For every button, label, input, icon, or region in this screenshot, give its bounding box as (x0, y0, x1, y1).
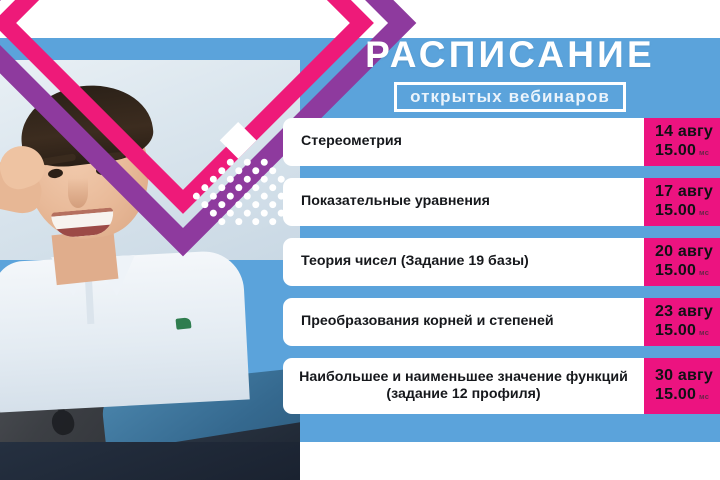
schedule-time: 15.00 (655, 142, 696, 159)
shirt-brand-logo-icon (175, 317, 191, 330)
schedule-topic: Теория чисел (Задание 19 базы) (283, 238, 644, 286)
schedule-datetime-block: 23 авгу15.00мс (644, 298, 720, 346)
schedule-timezone: мс (699, 208, 709, 217)
schedule-topic: Преобразования корней и степеней (283, 298, 644, 346)
schedule-row[interactable]: Преобразования корней и степеней23 авгу1… (283, 298, 720, 346)
subtitle-box: открытых вебинаров (394, 82, 626, 112)
schedule-list: Стереометрия14 авгу15.00мсПоказательные … (283, 118, 720, 426)
schedule-row[interactable]: Теория чисел (Задание 19 базы)20 авгу15.… (283, 238, 720, 286)
photo-young-man-with-laptop (0, 60, 300, 480)
poster-canvas: РАСПИСАНИЕ открытых вебинаров Стереометр… (0, 0, 720, 480)
schedule-time: 15.00 (655, 262, 696, 279)
schedule-topic: Наибольшее и наименьшее значение функций… (283, 358, 644, 414)
schedule-datetime-block: 20 авгу15.00мс (644, 238, 720, 286)
schedule-topic: Стереометрия (283, 118, 644, 166)
schedule-date: 23 авгу (655, 303, 720, 322)
schedule-date: 14 авгу (655, 123, 720, 142)
schedule-row[interactable]: Наибольшее и наименьшее значение функций… (283, 358, 720, 414)
schedule-time-line: 15.00мс (655, 142, 720, 161)
schedule-topic: Показательные уравнения (283, 178, 644, 226)
schedule-timezone: мс (699, 328, 709, 337)
page-subtitle: открытых вебинаров (410, 88, 610, 105)
schedule-time-line: 15.00мс (655, 262, 720, 281)
schedule-row[interactable]: Стереометрия14 авгу15.00мс (283, 118, 720, 166)
header: РАСПИСАНИЕ открытых вебинаров (300, 36, 720, 112)
schedule-timezone: мс (699, 268, 709, 277)
schedule-datetime-block: 14 авгу15.00мс (644, 118, 720, 166)
schedule-datetime-block: 30 авгу15.00мс (644, 358, 720, 414)
schedule-timezone: мс (699, 392, 709, 401)
schedule-time-line: 15.00мс (655, 386, 720, 405)
page-title: РАСПИСАНИЕ (300, 36, 720, 73)
photo-nose (68, 178, 88, 208)
schedule-row[interactable]: Показательные уравнения17 авгу15.00мс (283, 178, 720, 226)
schedule-time-line: 15.00мс (655, 202, 720, 221)
photo-smile (51, 207, 115, 238)
photo-bottom-bleed (0, 442, 300, 480)
schedule-time-line: 15.00мс (655, 322, 720, 341)
schedule-time: 15.00 (655, 202, 696, 219)
schedule-timezone: мс (699, 148, 709, 157)
schedule-time: 15.00 (655, 386, 696, 403)
schedule-date: 20 авгу (655, 243, 720, 262)
schedule-datetime-block: 17 авгу15.00мс (644, 178, 720, 226)
schedule-date: 30 авгу (655, 367, 720, 386)
schedule-date: 17 авгу (655, 183, 720, 202)
schedule-time: 15.00 (655, 322, 696, 339)
